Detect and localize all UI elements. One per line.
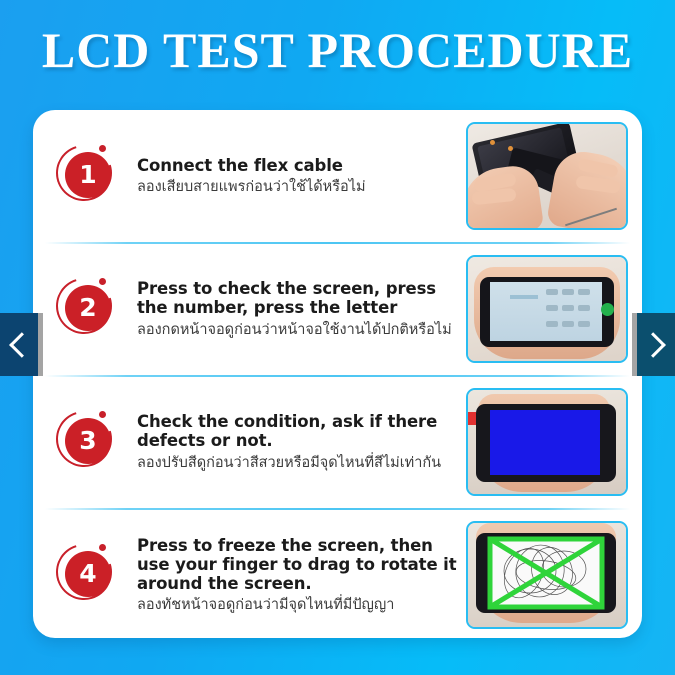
step-subtitle-2: ลองกดหน้าจอดูก่อนว่าหน้าจอใช้งานได้ปกติห… bbox=[137, 321, 458, 339]
step-text-4: Press to freeze the screen, then use you… bbox=[120, 536, 466, 615]
step-row-2: 2 Press to check the screen, press the n… bbox=[33, 243, 642, 375]
chevron-right-icon bbox=[640, 332, 665, 357]
step-heading-3: Check the condition, ask if there defect… bbox=[137, 412, 458, 450]
step-heading-2: Press to check the screen, press the num… bbox=[137, 279, 458, 317]
step-image-4 bbox=[466, 521, 628, 629]
step-heading-4: Press to freeze the screen, then use you… bbox=[137, 536, 458, 593]
badge-dot-icon bbox=[99, 544, 106, 551]
step-subtitle-1: ลองเสียบสายแพรก่อนว่าใช้ได้หรือไม่ bbox=[137, 178, 458, 196]
touch-test-pattern-icon bbox=[468, 523, 626, 627]
steps-list: 1 Connect the flex cable ลองเสียบสายแพรก… bbox=[33, 110, 642, 638]
step-number-3: 3 bbox=[65, 418, 111, 464]
step-number-4: 4 bbox=[65, 551, 111, 597]
step-image-3 bbox=[466, 388, 628, 496]
step-heading-1: Connect the flex cable bbox=[137, 156, 458, 175]
step-row-4: 4 Press to freeze the screen, then use y… bbox=[33, 509, 642, 638]
step-text-2: Press to check the screen, press the num… bbox=[120, 279, 466, 338]
badge-dot-icon bbox=[99, 278, 106, 285]
page-title: LCD TEST PROCEDURE bbox=[0, 24, 675, 77]
step-image-1 bbox=[466, 122, 628, 230]
step-number-badge-3: 3 bbox=[56, 410, 120, 474]
previous-slide-button[interactable] bbox=[0, 313, 38, 376]
badge-dot-icon bbox=[99, 145, 106, 152]
step-number-badge-2: 2 bbox=[56, 277, 120, 341]
step-row-1: 1 Connect the flex cable ลองเสียบสายแพรก… bbox=[33, 110, 642, 242]
step-subtitle-3: ลองปรับสีดูก่อนว่าสีสวยหรือมีจุดไหนที่สี… bbox=[137, 454, 458, 472]
step-image-2 bbox=[466, 255, 628, 363]
step-number-badge-1: 1 bbox=[56, 144, 120, 208]
chevron-left-icon bbox=[9, 332, 34, 357]
step-text-1: Connect the flex cable ลองเสียบสายแพรก่อ… bbox=[120, 156, 466, 196]
badge-dot-icon bbox=[99, 411, 106, 418]
step-number-1: 1 bbox=[65, 152, 111, 198]
next-slide-button[interactable] bbox=[637, 313, 675, 376]
step-number-2: 2 bbox=[65, 285, 111, 331]
step-number-badge-4: 4 bbox=[56, 543, 120, 607]
step-row-3: 3 Check the condition, ask if there defe… bbox=[33, 376, 642, 508]
steps-card: 1 Connect the flex cable ลองเสียบสายแพรก… bbox=[33, 110, 642, 638]
step-text-3: Check the condition, ask if there defect… bbox=[120, 412, 466, 471]
step-subtitle-4: ลองทัชหน้าจอดูก่อนว่ามีจุดไหนที่มีปัญญา bbox=[137, 596, 458, 614]
lcd-test-procedure-banner: LCD TEST PROCEDURE 1 Connect the flex ca… bbox=[0, 0, 675, 675]
